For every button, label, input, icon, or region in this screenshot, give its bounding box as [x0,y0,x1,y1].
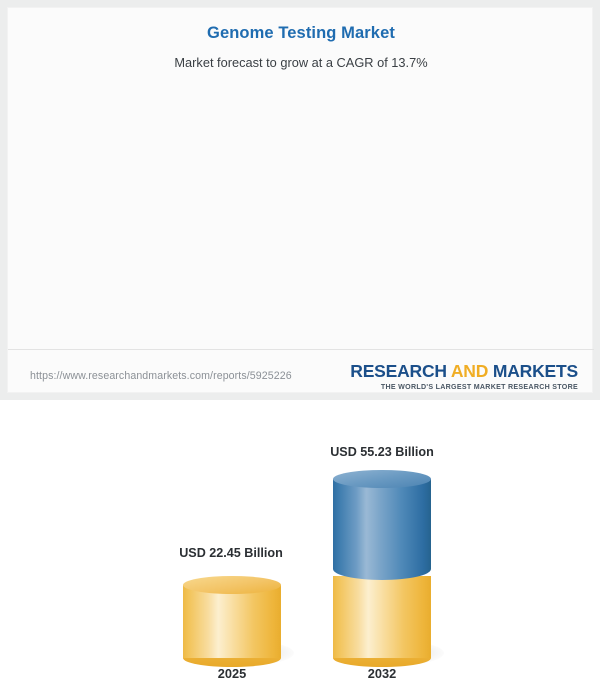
chart-plot-area: USD 22.45 Billion 2025 USD 55.23 Billion [8,8,594,348]
category-label-2032: 2032 [282,666,482,681]
cylinder-body-2025 [183,585,281,658]
footer-divider [8,349,594,350]
logo-word-research: RESEARCH [350,361,447,381]
cylinder-2032-growth-segment[interactable] [333,470,431,580]
chart-card: Genome Testing Market Market forecast to… [7,7,593,393]
cylinder-body-2032-yellow [333,576,431,658]
cylinder-2032-base-segment[interactable] [333,576,431,658]
logo-word-markets: MARKETS [493,361,578,381]
cylinder-body-2032-blue [333,479,431,580]
source-url[interactable]: https://www.researchandmarkets.com/repor… [30,370,292,382]
chart-page: Genome Testing Market Market forecast to… [0,0,600,400]
cylinder-top-2025 [183,576,281,594]
cylinder-2025[interactable] [183,576,281,658]
logo-tagline: THE WORLD'S LARGEST MARKET RESEARCH STOR… [350,384,578,391]
value-label-2025: USD 22.45 Billion [121,546,341,560]
brand-logo[interactable]: RESEARCH AND MARKETS THE WORLD'S LARGEST… [350,363,578,391]
value-label-2032: USD 55.23 Billion [272,445,492,459]
cylinder-top-2032 [333,470,431,488]
logo-wordmark: RESEARCH AND MARKETS [350,363,578,381]
logo-word-and: AND [447,361,493,381]
